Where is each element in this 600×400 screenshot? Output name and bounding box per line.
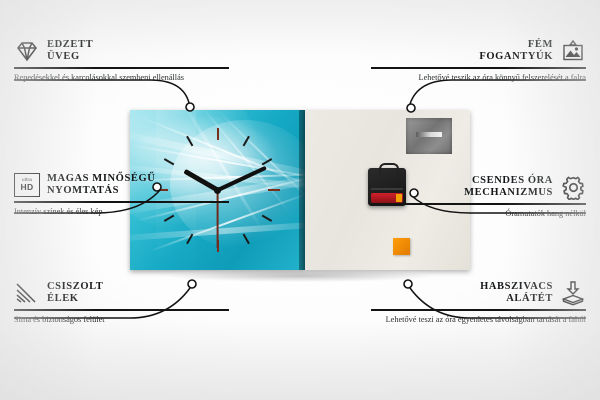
callout-subtitle: Lehetővé teszi az óra egyenletes távolsá… <box>371 315 586 326</box>
metal-hanger-plate <box>406 118 452 154</box>
callout-title-line1: MAGAS MINŐSÉGŰ <box>47 173 155 184</box>
polished-edge-icon <box>14 280 40 306</box>
callout-title-line2: FOGANTYÚK <box>479 51 553 62</box>
callout-title-line2: ÜVEG <box>47 51 80 62</box>
callout-subtitle: Óramutatók hang nélkül <box>371 209 586 220</box>
callout-title-line1: HABSZIVACS <box>480 281 553 292</box>
callout-title-line1: EDZETT <box>47 39 93 50</box>
callout-title-line1: CSENDES ÓRA <box>472 175 553 186</box>
foam-pad <box>393 238 410 255</box>
callout-tempered-glass[interactable]: EDZETT ÜVEG Repedésekkel és karcolásokka… <box>14 38 229 83</box>
callout-rule <box>371 203 586 205</box>
callout-subtitle: Sima és biztonságos felület <box>14 315 229 326</box>
callout-high-quality-print[interactable]: ultraHD MAGAS MINŐSÉGŰ NYOMTATÁS Intenzí… <box>14 172 229 217</box>
callout-rule <box>14 67 229 69</box>
press-down-pad-icon <box>560 280 586 306</box>
infographic-canvas: EDZETT ÜVEG Repedésekkel és karcolásokka… <box>0 0 600 400</box>
diamond-icon <box>14 38 40 64</box>
callout-rule <box>371 67 586 69</box>
callout-title-line2: ALÁTÉT <box>506 293 553 304</box>
callout-rule <box>371 309 586 311</box>
callout-metal-handles[interactable]: FÉM FOGANTYÚK Lehetővé teszik az óra kön… <box>371 38 586 83</box>
callout-rule <box>14 309 229 311</box>
callout-title-line1: FÉM <box>528 39 553 50</box>
callout-rule <box>14 201 229 203</box>
callout-title-line2: ÉLEK <box>47 293 79 304</box>
callout-title-line2: MECHANIZMUS <box>464 187 553 198</box>
callout-title-line1: CSISZOLT <box>47 281 103 292</box>
callout-silent-mechanism[interactable]: CSENDES ÓRA MECHANIZMUS Óramutatók hang … <box>371 174 586 219</box>
picture-hanger-icon <box>560 38 586 64</box>
callout-subtitle: Intenzív színek és éles kép <box>14 207 229 218</box>
gear-icon <box>560 174 586 200</box>
callout-subtitle: Lehetővé teszik az óra könnyű felszerelé… <box>371 73 586 84</box>
ultra-hd-icon: ultraHD <box>14 172 40 198</box>
callout-title-line2: NYOMTATÁS <box>47 185 119 196</box>
callout-subtitle: Repedésekkel és karcolásokkal szembeni e… <box>14 73 229 84</box>
callout-foam-pad[interactable]: HABSZIVACS ALÁTÉT Lehetővé teszi az óra … <box>371 280 586 325</box>
callout-polished-edges[interactable]: CSISZOLT ÉLEK Sima és biztonságos felüle… <box>14 280 229 325</box>
